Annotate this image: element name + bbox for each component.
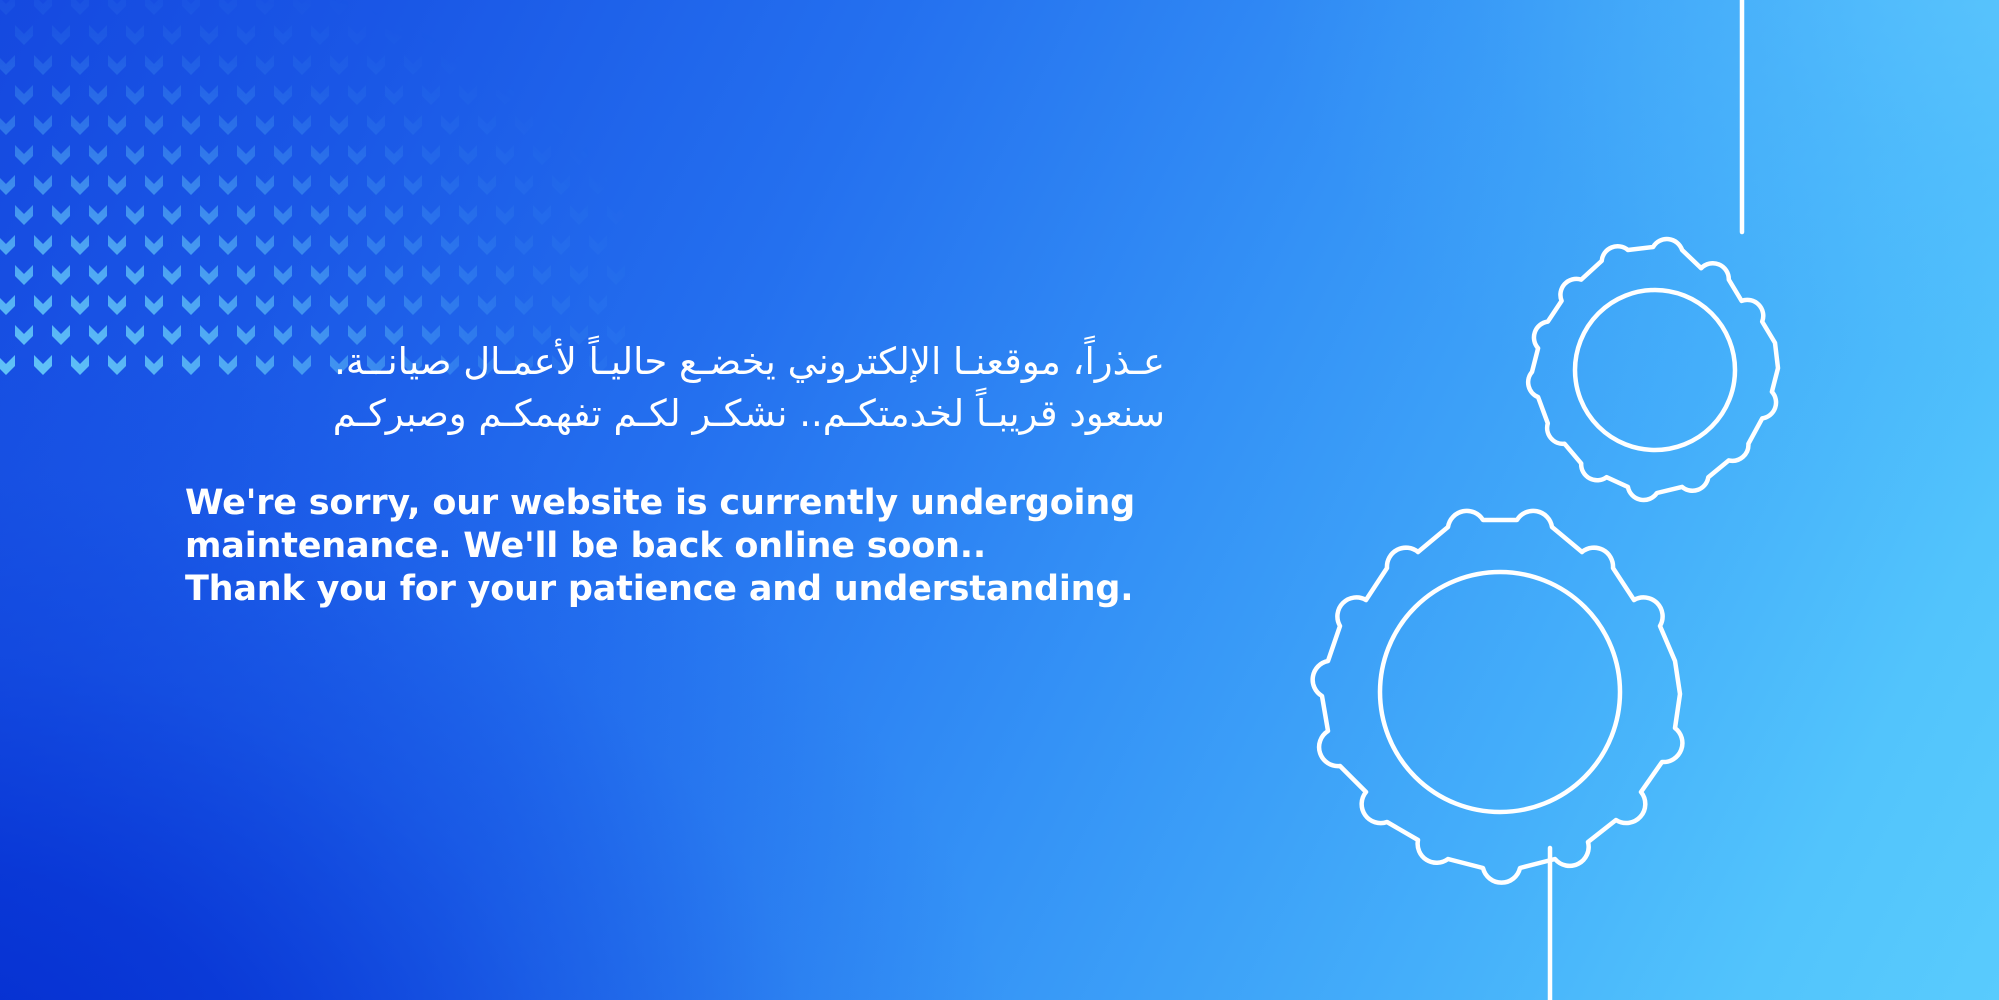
english-line-1: We're sorry, our website is currently un… [185,482,1165,525]
message-block: عـذراً، موقعنـا الإلكتروني يخضـع حاليـاً… [185,336,1165,611]
english-line-2: maintenance. We'll be back online soon.. [185,525,1165,568]
chevron-grid [0,0,625,375]
arabic-message: عـذراً، موقعنـا الإلكتروني يخضـع حاليـاً… [185,336,1165,440]
english-line-3: Thank you for your patience and understa… [185,568,1165,611]
small-gear [1528,239,1778,500]
arabic-line-1: عـذراً، موقعنـا الإلكتروني يخضـع حاليـاً… [185,336,1165,388]
arabic-line-2: سنعود قريبـاً لخدمتكـم.. نشكـر لكـم تفهم… [185,388,1165,440]
large-gear [1313,511,1683,883]
english-message: We're sorry, our website is currently un… [185,482,1165,611]
large-gear-hub [1380,572,1620,812]
maintenance-page: عـذراً، موقعنـا الإلكتروني يخضـع حاليـاً… [0,0,1999,1000]
small-gear-hub [1575,290,1735,450]
